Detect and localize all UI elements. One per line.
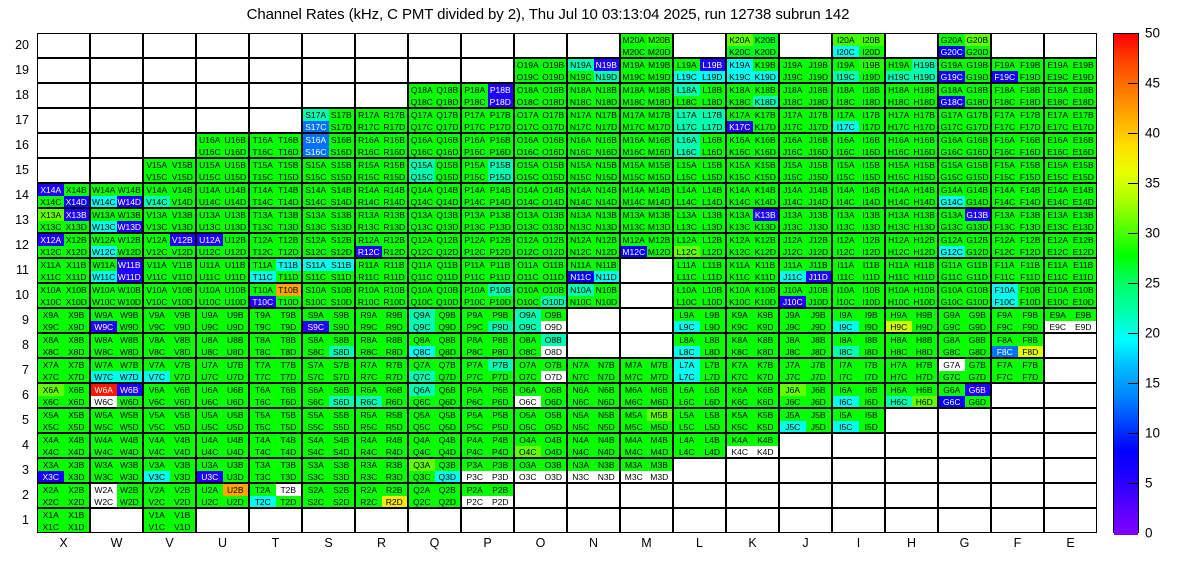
heatmap-cell: T16AT16BT16CT16D [249, 133, 302, 158]
heatmap-quadrant: P11A [462, 259, 488, 271]
heatmap-cell: T9AT9BT9CT9D [249, 308, 302, 333]
heatmap-cell [249, 508, 302, 533]
heatmap-quadrant: K17C [727, 121, 753, 133]
heatmap-quadrant: W5C [91, 421, 117, 433]
heatmap-quadrant: T5B [276, 409, 302, 421]
heatmap-quadrant: N7D [594, 371, 620, 383]
heatmap-quadrant: S9A [303, 309, 329, 321]
y-axis-tick-label: 6 [1, 388, 29, 402]
heatmap-quadrant: I13A [833, 209, 859, 221]
heatmap-cell: H11AH11BH11CH11D [885, 258, 938, 283]
heatmap-quadrant: G18A [939, 84, 965, 96]
heatmap-quadrant: I7B [859, 359, 885, 371]
heatmap-quadrant: J11B [806, 259, 832, 271]
heatmap-quadrant: M14D [647, 196, 673, 208]
heatmap-quadrant: V14B [170, 184, 196, 196]
x-axis-tick-label: W [90, 536, 143, 550]
heatmap-cell: I13AI13BI13CI13D [832, 208, 885, 233]
heatmap-quadrant: P11B [488, 259, 514, 271]
heatmap-cell: K12AK12BK12CK12D [726, 233, 779, 258]
heatmap-quadrant: M17B [647, 109, 673, 121]
heatmap-quadrant: T6A [250, 384, 276, 396]
heatmap-cell: X11AX11BX11CX11D [37, 258, 90, 283]
colorbar-tick-mark [1128, 433, 1139, 434]
heatmap-quadrant: R11C [356, 271, 382, 283]
heatmap-quadrant: P7D [488, 371, 514, 383]
heatmap-cell: P14AP14BP14CP14D [461, 183, 514, 208]
heatmap-quadrant: E12B [1071, 234, 1097, 246]
heatmap-quadrant: E17C [1045, 121, 1071, 133]
heatmap-quadrant: W5A [91, 409, 117, 421]
y-axis-tick-label: 16 [1, 138, 29, 152]
heatmap-quadrant: X4A [38, 434, 64, 446]
heatmap-quadrant: N4A [568, 434, 594, 446]
heatmap-quadrant: P14C [462, 196, 488, 208]
heatmap-quadrant: N18D [594, 96, 620, 108]
heatmap-quadrant: S7B [329, 359, 355, 371]
heatmap-cell: U10AU10BU10CU10D [196, 283, 249, 308]
heatmap-cell: N19AN19BN19CN19D [567, 58, 620, 83]
heatmap-quadrant: M17C [621, 121, 647, 133]
heatmap-quadrant: U4C [197, 446, 223, 458]
heatmap-quadrant: E14C [1045, 196, 1071, 208]
heatmap-cell: I17AI17BI17CI17D [832, 108, 885, 133]
heatmap-quadrant: X1D [64, 521, 90, 533]
heatmap-cell [37, 133, 90, 158]
heatmap-quadrant: H10C [886, 296, 912, 308]
heatmap-quadrant: I14A [833, 184, 859, 196]
heatmap-quadrant: H17C [886, 121, 912, 133]
heatmap-quadrant: M14C [621, 196, 647, 208]
heatmap-cell: P6AP6BP6CP6D [461, 383, 514, 408]
heatmap-quadrant: Q8B [435, 334, 461, 346]
heatmap-quadrant: J17D [806, 121, 832, 133]
heatmap-quadrant: Q4C [409, 446, 435, 458]
heatmap-quadrant: X8D [64, 346, 90, 358]
heatmap-quadrant: P12C [462, 246, 488, 258]
heatmap-quadrant: V2C [144, 496, 170, 508]
heatmap-quadrant: P15B [488, 159, 514, 171]
heatmap-cell: N6AN6BN6CN6D [567, 383, 620, 408]
heatmap-quadrant: M4B [647, 434, 673, 446]
y-axis-tick-label: 8 [1, 338, 29, 352]
heatmap-quadrant: P10D [488, 296, 514, 308]
heatmap-quadrant: K6C [727, 396, 753, 408]
heatmap-quadrant: W4B [117, 434, 143, 446]
heatmap-quadrant: H18B [912, 84, 938, 96]
heatmap-quadrant: T2B [276, 484, 302, 496]
heatmap-cell: X13AX13BX13CX13D [37, 208, 90, 233]
heatmap-quadrant: Q16C [409, 146, 435, 158]
heatmap-quadrant: M15B [647, 159, 673, 171]
heatmap-quadrant: W2D [117, 496, 143, 508]
heatmap-quadrant: L4D [700, 446, 726, 458]
heatmap-quadrant: V7A [144, 359, 170, 371]
heatmap-quadrant: F19A [992, 59, 1018, 71]
heatmap-cell [90, 33, 143, 58]
heatmap-cell: U3AU3BU3CU3D [196, 458, 249, 483]
heatmap-quadrant: J17C [780, 121, 806, 133]
heatmap-quadrant: L15A [674, 159, 700, 171]
heatmap-quadrant: O16B [541, 134, 567, 146]
heatmap-quadrant: J8B [806, 334, 832, 346]
heatmap-quadrant: H18A [886, 84, 912, 96]
heatmap-quadrant: O15C [515, 171, 541, 183]
heatmap-quadrant: J13A [780, 209, 806, 221]
heatmap-quadrant: I15A [833, 159, 859, 171]
heatmap-cell: V12AV12BV12CV12D [143, 233, 196, 258]
heatmap-quadrant: X3D [64, 471, 90, 483]
heatmap-quadrant: G16D [965, 146, 991, 158]
heatmap-quadrant: E9C [1045, 321, 1071, 333]
heatmap-quadrant: X9D [64, 321, 90, 333]
heatmap-cell: V9AV9BV9CV9D [143, 308, 196, 333]
heatmap-quadrant: N3D [594, 471, 620, 483]
heatmap-quadrant: O14A [515, 184, 541, 196]
heatmap-cell [90, 158, 143, 183]
heatmap-quadrant: M3C [621, 471, 647, 483]
heatmap-cell [938, 508, 991, 533]
heatmap-cell: M3AM3BM3CM3D [620, 458, 673, 483]
heatmap-quadrant: O14C [515, 196, 541, 208]
heatmap-quadrant: P13A [462, 209, 488, 221]
heatmap-quadrant: F8B [1018, 334, 1044, 346]
heatmap-quadrant: F9C [992, 321, 1018, 333]
heatmap-quadrant: M17A [621, 109, 647, 121]
heatmap-quadrant: J8A [780, 334, 806, 346]
heatmap-quadrant: V12B [170, 234, 196, 246]
heatmap-cell: L11AL11BL11CL11D [673, 258, 726, 283]
heatmap-cell: P9AP9BP9CP9D [461, 308, 514, 333]
heatmap-quadrant: S11A [303, 259, 329, 271]
heatmap-quadrant: H16A [886, 134, 912, 146]
heatmap-quadrant: H14C [886, 196, 912, 208]
heatmap-quadrant: O9C [515, 321, 541, 333]
heatmap-quadrant: K9A [727, 309, 753, 321]
heatmap-quadrant: K13D [753, 221, 779, 233]
heatmap-quadrant: X9B [64, 309, 90, 321]
y-axis-tick-label: 13 [1, 213, 29, 227]
heatmap-quadrant: K10A [727, 284, 753, 296]
heatmap-quadrant: M20B [647, 34, 673, 46]
heatmap-quadrant: Q10D [435, 296, 461, 308]
heatmap-cell: J17AJ17BJ17CJ17D [779, 108, 832, 133]
heatmap-quadrant: W6B [117, 384, 143, 396]
heatmap-cell: E14AE14BE14CE14D [1044, 183, 1097, 208]
heatmap-cell: G17AG17BG17CG17D [938, 108, 991, 133]
heatmap-quadrant: K13B [753, 209, 779, 221]
heatmap-quadrant: G12A [939, 234, 965, 246]
heatmap-quadrant: P2C [462, 496, 488, 508]
heatmap-quadrant: J15A [780, 159, 806, 171]
heatmap-quadrant: E10C [1045, 296, 1071, 308]
heatmap-cell: J18AJ18BJ18CJ18D [779, 83, 832, 108]
heatmap-cell: E13AE13BE13CE13D [1044, 208, 1097, 233]
heatmap-quadrant: Q16D [435, 146, 461, 158]
heatmap-cell: P7AP7BP7CP7D [461, 358, 514, 383]
heatmap-quadrant: R10B [382, 284, 408, 296]
heatmap-quadrant: H18D [912, 96, 938, 108]
heatmap-cell [355, 33, 408, 58]
heatmap-quadrant: U12A [197, 234, 223, 246]
heatmap-quadrant: L11C [674, 271, 700, 283]
heatmap-quadrant: R14C [356, 196, 382, 208]
heatmap-quadrant: K18D [753, 96, 779, 108]
heatmap-cell: V15AV15BV15CV15D [143, 158, 196, 183]
heatmap-quadrant: K7D [753, 371, 779, 383]
heatmap-quadrant: K9D [753, 321, 779, 333]
heatmap-quadrant: G15D [965, 171, 991, 183]
heatmap-quadrant: R14D [382, 196, 408, 208]
heatmap-quadrant: W11A [91, 259, 117, 271]
heatmap-cell: G7AG7BG7CG7D [938, 358, 991, 383]
heatmap-cell [832, 508, 885, 533]
heatmap-quadrant: F10B [1018, 284, 1044, 296]
heatmap-cell: X10AX10BX10CX10D [37, 283, 90, 308]
heatmap-quadrant: V3C [144, 471, 170, 483]
heatmap-quadrant: N4B [594, 434, 620, 446]
heatmap-quadrant: U7C [197, 371, 223, 383]
heatmap-quadrant: J15B [806, 159, 832, 171]
heatmap-quadrant: J6C [780, 396, 806, 408]
heatmap-cell: F18AF18BF18CF18D [991, 83, 1044, 108]
heatmap-cell: W14AW14BW14CW14D [90, 183, 143, 208]
heatmap-cell [991, 433, 1044, 458]
heatmap-quadrant: S6D [329, 396, 355, 408]
heatmap-quadrant: V8C [144, 346, 170, 358]
heatmap-cell [249, 58, 302, 83]
heatmap-quadrant: N17D [594, 121, 620, 133]
heatmap-quadrant: R15A [356, 159, 382, 171]
y-axis-tick-label: 14 [1, 188, 29, 202]
heatmap-quadrant: F10A [992, 284, 1018, 296]
heatmap-quadrant: P5A [462, 409, 488, 421]
heatmap-quadrant: G19B [965, 59, 991, 71]
heatmap-cell [408, 33, 461, 58]
heatmap-cell: W13AW13BW13CW13D [90, 208, 143, 233]
heatmap-cell: W7AW7BW7CW7D [90, 358, 143, 383]
heatmap-cell: R6AR6BR6CR6D [355, 383, 408, 408]
heatmap-quadrant: L6B [700, 384, 726, 396]
heatmap-quadrant: R15D [382, 171, 408, 183]
heatmap-quadrant: G14B [965, 184, 991, 196]
heatmap-cell: E10AE10BE10CE10D [1044, 283, 1097, 308]
heatmap-quadrant: I9B [859, 309, 885, 321]
x-axis-tick-label: N [567, 536, 620, 550]
heatmap-quadrant: P2A [462, 484, 488, 496]
heatmap-quadrant: U15B [223, 159, 249, 171]
heatmap-cell [249, 33, 302, 58]
heatmap-quadrant: I12D [859, 246, 885, 258]
heatmap-quadrant: W13B [117, 209, 143, 221]
heatmap-quadrant: S11D [329, 271, 355, 283]
heatmap-quadrant: L13A [674, 209, 700, 221]
heatmap-quadrant: G7B [965, 359, 991, 371]
heatmap-quadrant: N5D [594, 421, 620, 433]
heatmap-quadrant: V7D [170, 371, 196, 383]
heatmap-quadrant: P12D [488, 246, 514, 258]
heatmap-quadrant: V7B [170, 359, 196, 371]
heatmap-cell: H9AH9BH9CH9D [885, 308, 938, 333]
heatmap-quadrant: X4D [64, 446, 90, 458]
heatmap-quadrant: G9B [965, 309, 991, 321]
heatmap-quadrant: W6C [91, 396, 117, 408]
heatmap-cell: F15AF15BF15CF15D [991, 158, 1044, 183]
heatmap-quadrant: P3D [488, 471, 514, 483]
heatmap-quadrant: V12C [144, 246, 170, 258]
heatmap-quadrant: K5A [727, 409, 753, 421]
heatmap-cell: P3AP3BP3CP3D [461, 458, 514, 483]
heatmap-quadrant: M15A [621, 159, 647, 171]
y-axis-tick-label: 15 [1, 163, 29, 177]
heatmap-quadrant: Q7A [409, 359, 435, 371]
heatmap-quadrant: N11B [594, 259, 620, 271]
heatmap-quadrant: J5B [806, 409, 832, 421]
heatmap-cell [514, 483, 567, 508]
heatmap-quadrant: P17C [462, 121, 488, 133]
heatmap-quadrant: T8D [276, 346, 302, 358]
heatmap-quadrant: U14C [197, 196, 223, 208]
heatmap-quadrant: R4A [356, 434, 382, 446]
heatmap-quadrant: T4A [250, 434, 276, 446]
heatmap-quadrant: K4A [727, 434, 753, 446]
heatmap-quadrant: T15D [276, 171, 302, 183]
heatmap-cell: H18AH18BH18CH18D [885, 83, 938, 108]
heatmap-cell [1044, 483, 1097, 508]
heatmap-quadrant: G14C [939, 196, 965, 208]
heatmap-quadrant: S2A [303, 484, 329, 496]
heatmap-quadrant: W12A [91, 234, 117, 246]
heatmap-quadrant: E19B [1071, 59, 1097, 71]
heatmap-cell: Q17AQ17BQ17CQ17D [408, 108, 461, 133]
heatmap-cell: Q3AQ3BQ3CQ3D [408, 458, 461, 483]
heatmap-quadrant: O6C [515, 396, 541, 408]
heatmap-quadrant: P9C [462, 321, 488, 333]
heatmap-quadrant: G20C [939, 46, 965, 58]
heatmap-quadrant: N15D [594, 171, 620, 183]
heatmap-quadrant: J9B [806, 309, 832, 321]
heatmap-quadrant: I16A [833, 134, 859, 146]
heatmap-quadrant: O12B [541, 234, 567, 246]
heatmap-quadrant: R3A [356, 459, 382, 471]
heatmap-quadrant: S4C [303, 446, 329, 458]
x-axis-tick-label: P [461, 536, 514, 550]
heatmap-quadrant: T11B [276, 259, 302, 271]
heatmap-quadrant: R12C [356, 246, 382, 258]
heatmap-quadrant: E12A [1045, 234, 1071, 246]
heatmap-quadrant: Q18A [409, 84, 435, 96]
heatmap-cell: L6AL6BL6CL6D [673, 383, 726, 408]
heatmap-quadrant: J6D [806, 396, 832, 408]
heatmap-quadrant: O19B [541, 59, 567, 71]
heatmap-quadrant: F17C [992, 121, 1018, 133]
heatmap-quadrant: U15A [197, 159, 223, 171]
heatmap-quadrant: I11B [859, 259, 885, 271]
heatmap-quadrant: U4A [197, 434, 223, 446]
heatmap-quadrant: M6D [647, 396, 673, 408]
heatmap-quadrant: O6B [541, 384, 567, 396]
heatmap-quadrant: Q4B [435, 434, 461, 446]
heatmap-quadrant: Q15C [409, 171, 435, 183]
heatmap-quadrant: U5A [197, 409, 223, 421]
heatmap-quadrant: R12D [382, 246, 408, 258]
heatmap-cell: W3AW3BW3CW3D [90, 458, 143, 483]
heatmap-quadrant: T11A [250, 259, 276, 271]
heatmap-quadrant: Q18B [435, 84, 461, 96]
heatmap-quadrant: S9B [329, 309, 355, 321]
heatmap-cell: W9AW9BW9CW9D [90, 308, 143, 333]
heatmap-cell: V10AV10BV10CV10D [143, 283, 196, 308]
heatmap-quadrant: S15A [303, 159, 329, 171]
heatmap-quadrant: K6A [727, 384, 753, 396]
heatmap-cell: S2AS2BS2CS2D [302, 483, 355, 508]
heatmap-quadrant: E12C [1045, 246, 1071, 258]
heatmap-quadrant: J19B [806, 59, 832, 71]
heatmap-quadrant: M13B [647, 209, 673, 221]
heatmap-cell: J7AJ7BJ7CJ7D [779, 358, 832, 383]
heatmap-cell [991, 508, 1044, 533]
heatmap-cell: Q8AQ8BQ8CQ8D [408, 333, 461, 358]
heatmap-quadrant: X9A [38, 309, 64, 321]
heatmap-quadrant: W4D [117, 446, 143, 458]
heatmap-quadrant: H12D [912, 246, 938, 258]
heatmap-cell: E16AE16BE16CE16D [1044, 133, 1097, 158]
heatmap-quadrant: I12C [833, 246, 859, 258]
heatmap-cell: R4AR4BR4CR4D [355, 433, 408, 458]
heatmap-quadrant: L11A [674, 259, 700, 271]
heatmap-quadrant: V13C [144, 221, 170, 233]
heatmap-quadrant: H9A [886, 309, 912, 321]
heatmap-cell: W4AW4BW4CW4D [90, 433, 143, 458]
heatmap-cell: W11AW11BW11CW11D [90, 258, 143, 283]
heatmap-cell [1044, 333, 1097, 358]
heatmap-quadrant: F9D [1018, 321, 1044, 333]
heatmap-quadrant: S6C [303, 396, 329, 408]
heatmap-quadrant: P12B [488, 234, 514, 246]
heatmap-cell: M7AM7BM7CM7D [620, 358, 673, 383]
heatmap-quadrant: E10D [1071, 296, 1097, 308]
heatmap-cell: L14AL14BL14CL14D [673, 183, 726, 208]
heatmap-quadrant: F7D [1018, 371, 1044, 383]
heatmap-quadrant: L8A [674, 334, 700, 346]
heatmap-quadrant: U3B [223, 459, 249, 471]
heatmap-quadrant: V15C [144, 171, 170, 183]
heatmap-cell: P2AP2BP2CP2D [461, 483, 514, 508]
heatmap-quadrant: O19A [515, 59, 541, 71]
heatmap-quadrant: O18D [541, 96, 567, 108]
heatmap-quadrant: G11A [939, 259, 965, 271]
heatmap-quadrant: O10A [515, 284, 541, 296]
heatmap-quadrant: Q8D [435, 346, 461, 358]
heatmap-quadrant: L16B [700, 134, 726, 146]
heatmap-cell: U15AU15BU15CU15D [196, 158, 249, 183]
heatmap-quadrant: S7A [303, 359, 329, 371]
heatmap-quadrant: T2A [250, 484, 276, 496]
heatmap-cell: T2AT2BT2CT2D [249, 483, 302, 508]
heatmap-cell: N4AN4BN4CN4D [567, 433, 620, 458]
heatmap-cell: L9AL9BL9CL9D [673, 308, 726, 333]
heatmap-quadrant: E17B [1071, 109, 1097, 121]
y-axis-tick-label: 4 [1, 438, 29, 452]
heatmap-cell: O8AO8BO8CO8D [514, 333, 567, 358]
heatmap-cell: Q5AQ5BQ5CQ5D [408, 408, 461, 433]
heatmap-quadrant: O3B [541, 459, 567, 471]
heatmap-quadrant: H9B [912, 309, 938, 321]
heatmap-quadrant: J14C [780, 196, 806, 208]
heatmap-quadrant: H19B [912, 59, 938, 71]
heatmap-quadrant: M20A [621, 34, 647, 46]
heatmap-quadrant: I15B [859, 159, 885, 171]
